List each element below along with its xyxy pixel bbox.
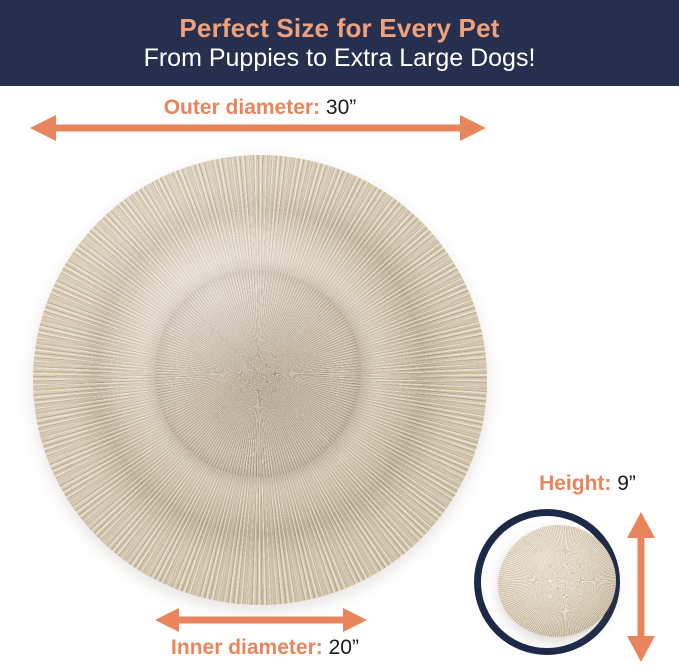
fur-texture-side: [498, 525, 616, 637]
pet-bed-top-view: [33, 155, 487, 605]
inner-diameter-arrow: [155, 606, 367, 634]
height-arrow: [624, 512, 658, 662]
banner-title: Perfect Size for Every Pet: [179, 14, 499, 42]
height-label: Height: 9”: [500, 472, 675, 496]
height-value: 9”: [617, 472, 636, 495]
inner-diameter-label: Inner diameter: 20”: [110, 636, 420, 660]
infographic-page: Perfect Size for Every Pet From Puppies …: [0, 0, 679, 667]
pet-bed-side-view: [498, 525, 616, 637]
height-label-text: Height:: [539, 472, 611, 495]
banner-subtitle: From Puppies to Extra Large Dogs!: [144, 45, 536, 72]
header-banner: Perfect Size for Every Pet From Puppies …: [0, 0, 679, 86]
pet-bed-inner-bowl: [155, 270, 362, 477]
inner-diameter-label-text: Inner diameter:: [171, 636, 323, 659]
outer-diameter-arrow: [30, 113, 486, 143]
inner-diameter-value: 20”: [329, 636, 359, 659]
